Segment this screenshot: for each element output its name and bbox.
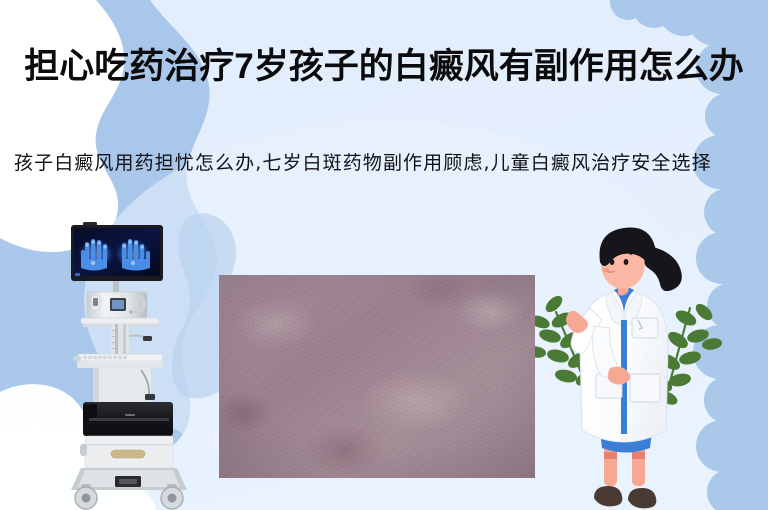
doctor-ponytail (644, 246, 681, 291)
cart-monitor (71, 222, 163, 292)
dermatology-skin-closeup (219, 275, 535, 478)
cart-keyboard-tray (73, 354, 163, 368)
female-doctor-illustration (528, 208, 733, 510)
doctor-shoes (594, 486, 656, 508)
page-title: 担心吃药治疗7岁孩子的白癜风有副作用怎么办 (14, 46, 754, 87)
cart-wheelbase (71, 468, 187, 509)
cart-mid-body (93, 368, 155, 402)
doctor-head (600, 228, 682, 296)
cart-control-module (87, 292, 147, 318)
cart-drawer-base (80, 436, 173, 468)
poster-canvas: 担心吃药治疗7岁孩子的白癜风有副作用怎么办 孩子白癜风用药担忧怎么办,七岁白斑药… (0, 0, 768, 510)
cart-printer (83, 402, 173, 436)
doctor-lab-coat (580, 287, 668, 442)
photo-vignette (219, 275, 535, 478)
page-subtitle: 孩子白癜风用药担忧怎么办,七岁白斑药物副作用顾虑,儿童白癜风治疗安全选择 (14, 150, 756, 177)
medical-imaging-cart (63, 218, 221, 510)
